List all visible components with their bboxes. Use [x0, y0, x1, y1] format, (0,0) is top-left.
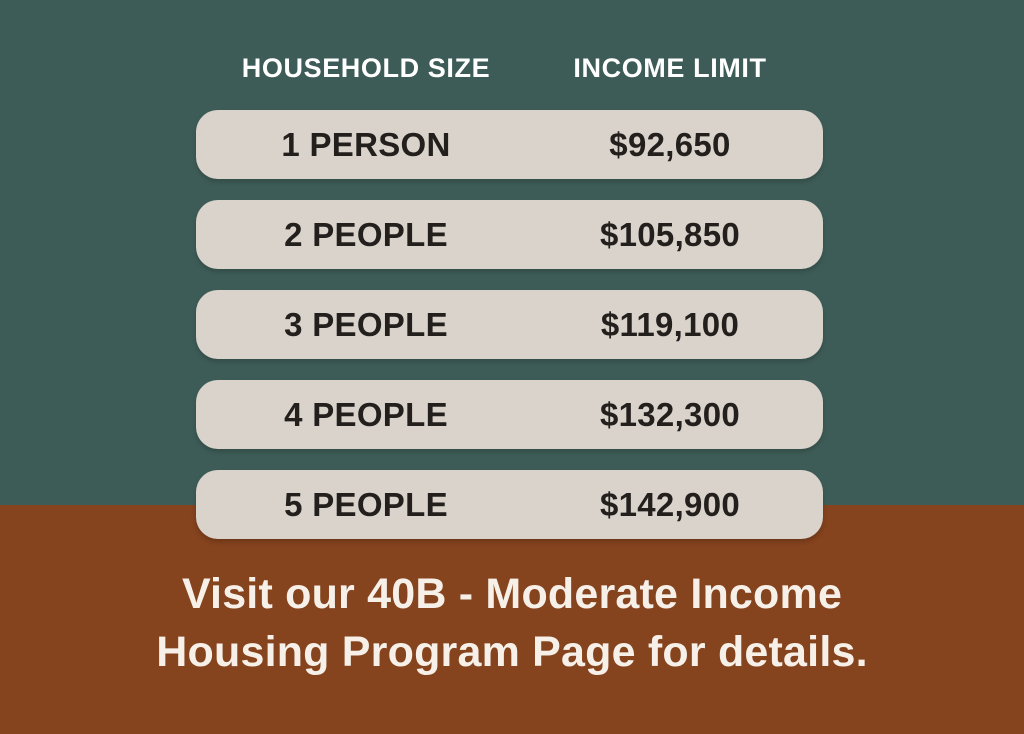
cell-income-limit: $119,100 [540, 290, 800, 359]
table-row: 1 PERSON $92,650 [196, 110, 823, 179]
cell-income-limit: $132,300 [540, 380, 800, 449]
cell-household-size: 4 PEOPLE [196, 380, 536, 449]
cell-income-limit: $105,850 [540, 200, 800, 269]
income-limits-poster: HOUSEHOLD SIZE INCOME LIMIT 1 PERSON $92… [0, 0, 1024, 734]
caption: Visit our 40B - Moderate Income Housing … [0, 565, 1024, 681]
table-header: HOUSEHOLD SIZE INCOME LIMIT [0, 48, 1024, 88]
cell-household-size: 1 PERSON [196, 110, 536, 179]
column-header-income-limit: INCOME LIMIT [540, 48, 800, 88]
cell-household-size: 3 PEOPLE [196, 290, 536, 359]
table-row: 3 PEOPLE $119,100 [196, 290, 823, 359]
caption-line-2: Housing Program Page for details. [0, 623, 1024, 681]
cell-income-limit: $142,900 [540, 470, 800, 539]
caption-line-1: Visit our 40B - Moderate Income [0, 565, 1024, 623]
cell-household-size: 5 PEOPLE [196, 470, 536, 539]
cell-income-limit: $92,650 [540, 110, 800, 179]
table-row: 4 PEOPLE $132,300 [196, 380, 823, 449]
cell-household-size: 2 PEOPLE [196, 200, 536, 269]
column-header-household-size: HOUSEHOLD SIZE [196, 48, 536, 88]
table-row: 2 PEOPLE $105,850 [196, 200, 823, 269]
table-row: 5 PEOPLE $142,900 [196, 470, 823, 539]
income-limits-table: 1 PERSON $92,650 2 PEOPLE $105,850 3 PEO… [196, 110, 823, 560]
